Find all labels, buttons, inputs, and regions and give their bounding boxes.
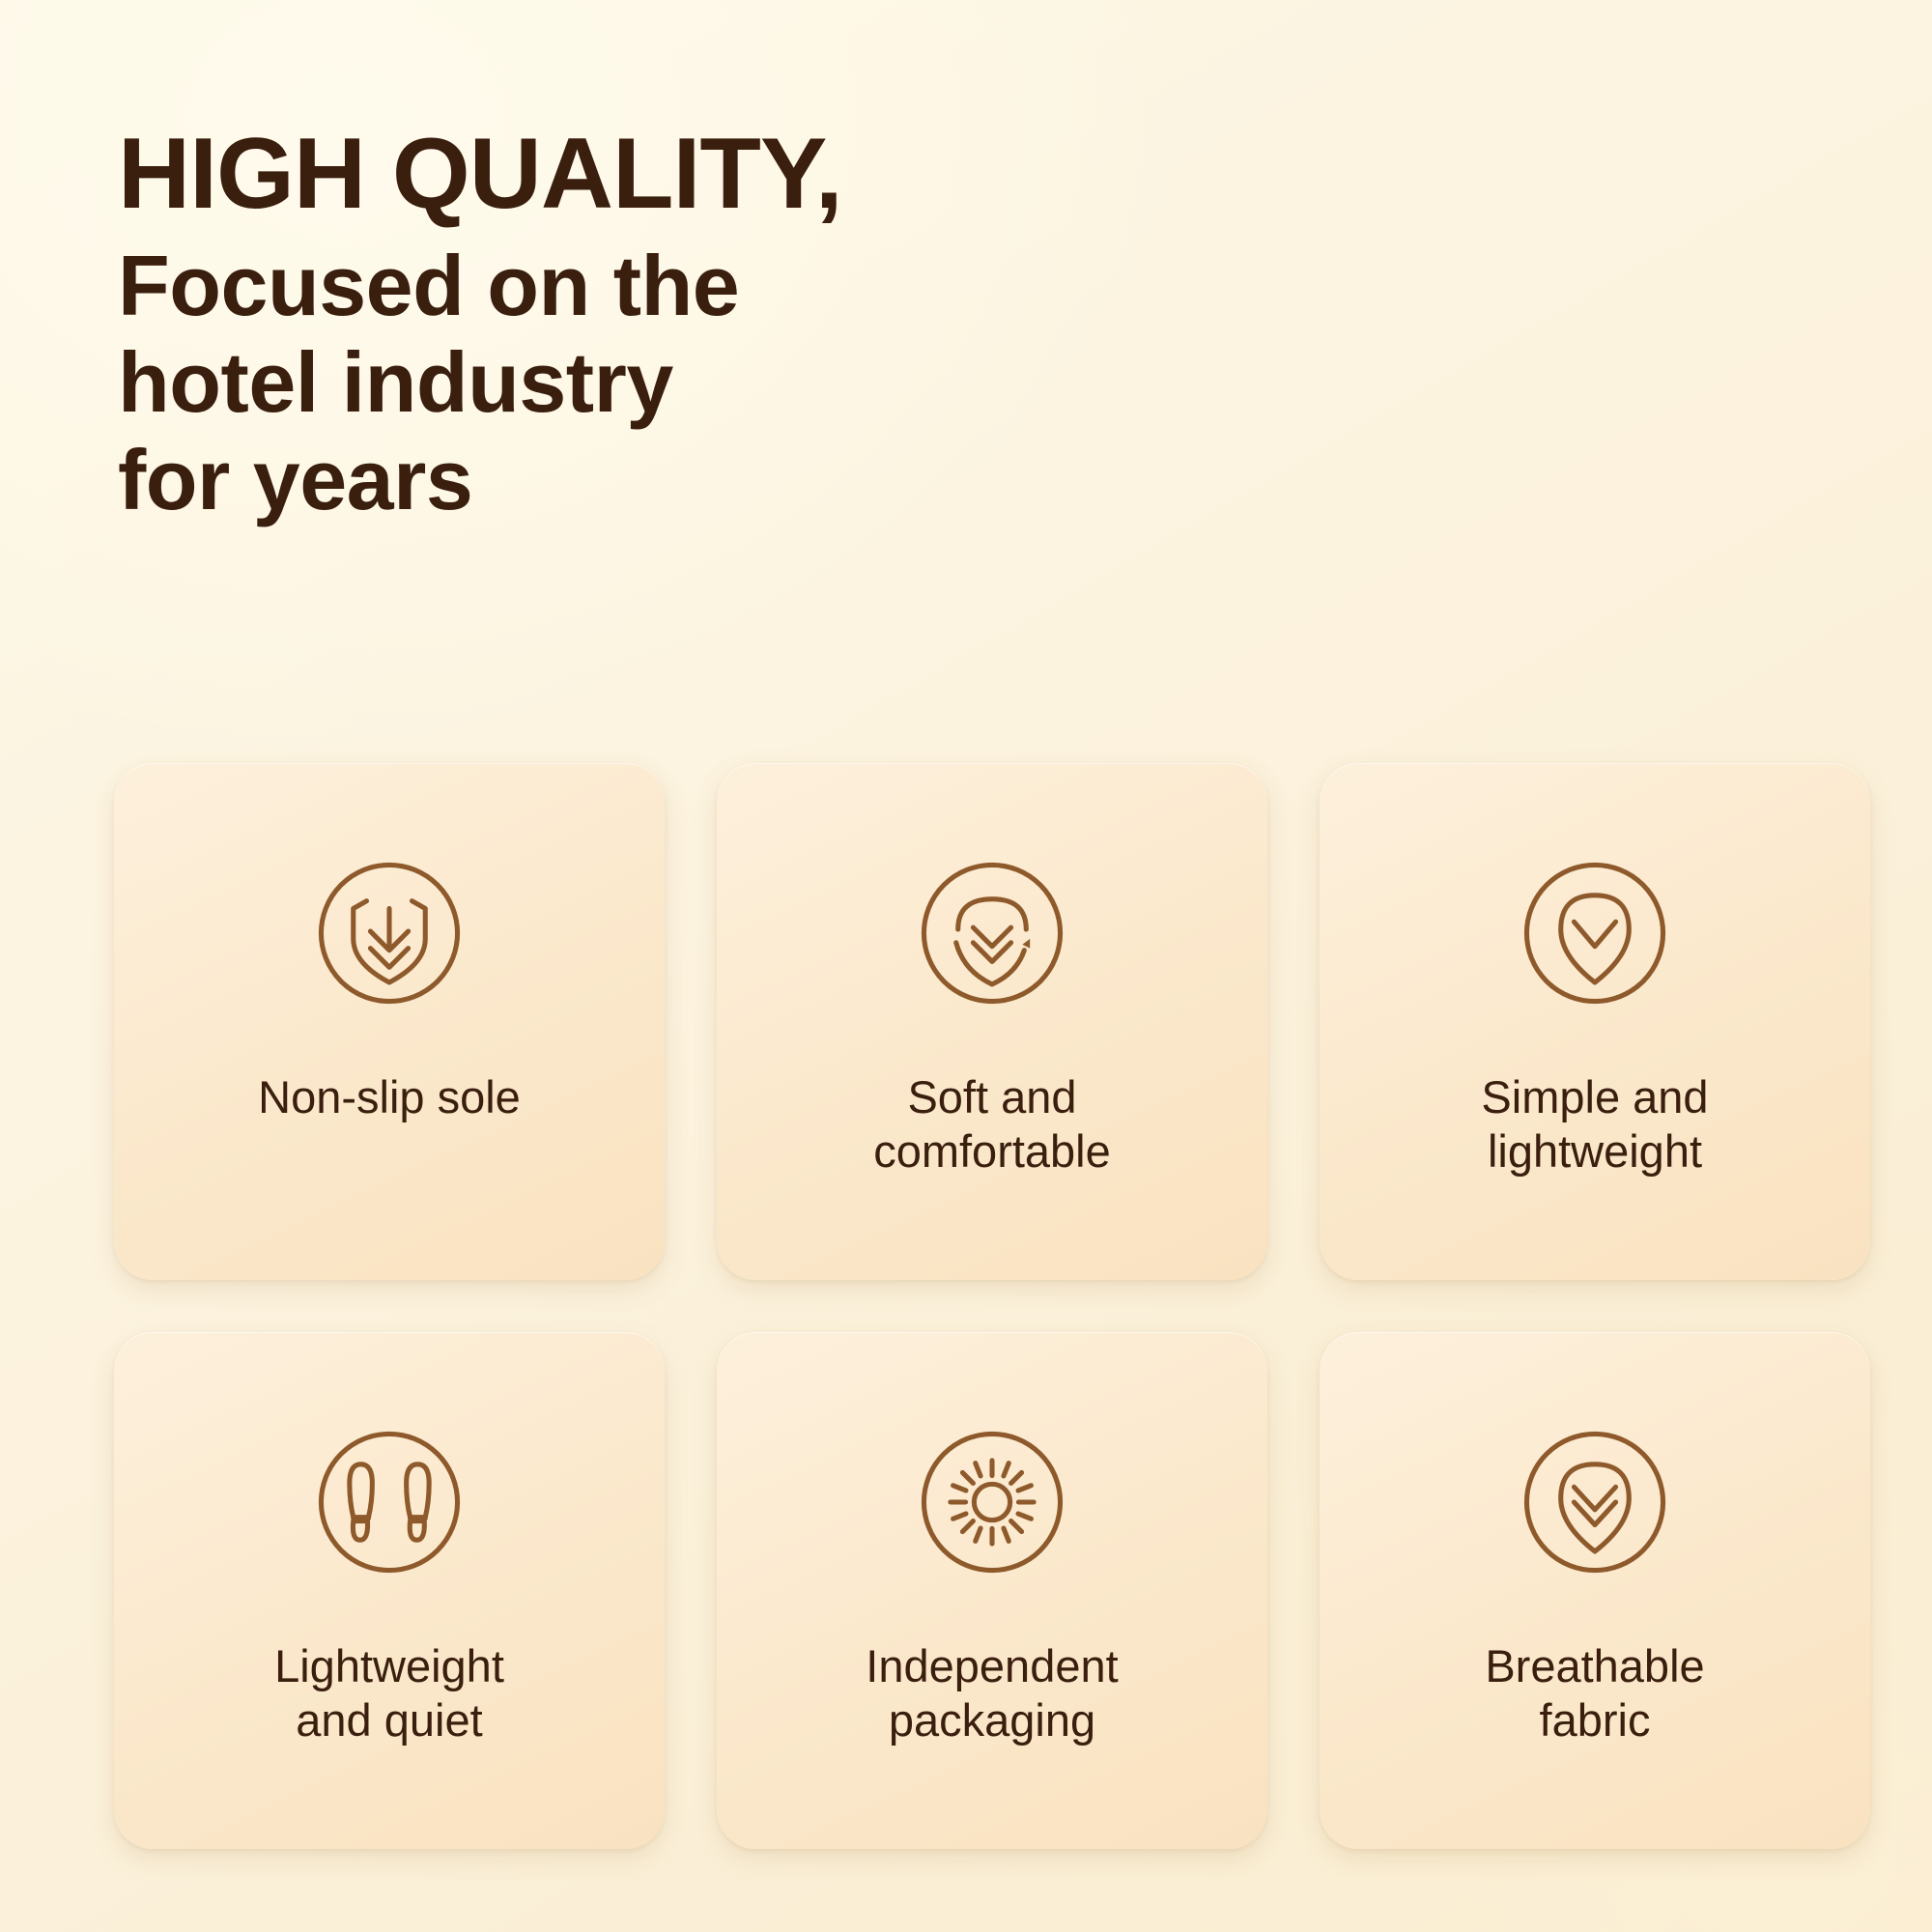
heading-block: HIGH QUALITY, Focused on the hotel indus… bbox=[118, 124, 1180, 528]
teardrop-double-chevron-icon bbox=[1500, 1407, 1690, 1597]
page-title-primary: HIGH QUALITY, bbox=[118, 124, 1180, 224]
feature-card-label-line-1: Non-slip sole bbox=[136, 1070, 642, 1124]
feature-card-label: Non-slip sole bbox=[136, 1070, 642, 1124]
feature-card-label: Simple and lightweight bbox=[1342, 1070, 1848, 1179]
feature-card-label-line-2: packaging bbox=[739, 1693, 1245, 1747]
feature-card-label-line-1: Lightweight bbox=[136, 1639, 642, 1693]
teardrop-chevron-icon bbox=[1500, 838, 1690, 1028]
feature-card-label: Independent packaging bbox=[739, 1639, 1245, 1748]
feature-card-label-line-1: Independent bbox=[739, 1639, 1245, 1693]
footprints-icon bbox=[295, 1407, 484, 1597]
feature-card-label-line-2: fabric bbox=[1342, 1693, 1848, 1747]
feature-card-label-line-1: Breathable bbox=[1342, 1639, 1848, 1693]
page-title-secondary-line-2: hotel industry bbox=[118, 334, 1180, 431]
feature-card-label: Lightweight and quiet bbox=[136, 1639, 642, 1748]
feature-card-label: Breathable fabric bbox=[1342, 1639, 1848, 1748]
shield-arrow-down-icon bbox=[295, 838, 484, 1028]
feature-card: Breathable fabric bbox=[1320, 1332, 1870, 1849]
feature-card-label-line-2: and quiet bbox=[136, 1693, 642, 1747]
feature-card-label-line-2: comfortable bbox=[739, 1124, 1245, 1179]
feature-card: Non-slip sole bbox=[114, 763, 665, 1280]
page-title-secondary-line-3: for years bbox=[118, 432, 1180, 528]
feature-card: Simple and lightweight bbox=[1320, 763, 1870, 1280]
feature-card-label-line-2: lightweight bbox=[1342, 1124, 1848, 1179]
feature-card-label: Soft and comfortable bbox=[739, 1070, 1245, 1179]
page-title-secondary-line-1: Focused on the bbox=[118, 238, 1180, 334]
soft-cushion-chevrons-icon bbox=[897, 838, 1087, 1028]
page-title-secondary: Focused on the hotel industry for years bbox=[118, 238, 1180, 528]
feature-card-label-line-1: Simple and bbox=[1342, 1070, 1848, 1124]
promo-banner: HIGH QUALITY, Focused on the hotel indus… bbox=[0, 0, 1932, 1932]
feature-card: Soft and comfortable bbox=[717, 763, 1267, 1280]
sun-icon bbox=[897, 1407, 1087, 1597]
feature-card-grid: Non-slip sole Soft and comfortable bbox=[114, 763, 1841, 1849]
feature-card-label-line-1: Soft and bbox=[739, 1070, 1245, 1124]
feature-card: Independent packaging bbox=[717, 1332, 1267, 1849]
feature-card: Lightweight and quiet bbox=[114, 1332, 665, 1849]
